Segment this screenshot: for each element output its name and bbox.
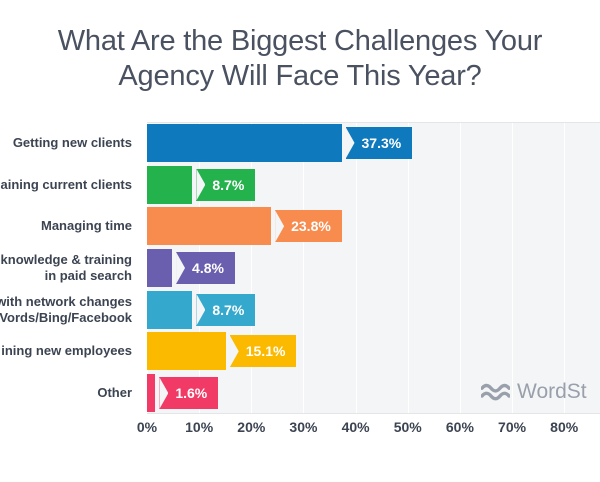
value-tick-label: 30% (289, 419, 317, 435)
bar-chart: What Are the Biggest Challenges Your Age… (0, 0, 600, 482)
bar-value-text: 37.3% (362, 135, 402, 151)
category-label: ining new employees (1, 343, 132, 359)
category-label: Other (97, 385, 132, 401)
bar-row: 23.8% (147, 207, 600, 245)
callout-notch-icon (196, 169, 205, 201)
bar-row: 15.1% (147, 332, 600, 370)
bar-value-label: 4.8% (176, 252, 235, 284)
value-tick-label: 80% (550, 419, 578, 435)
bar[interactable] (147, 374, 155, 412)
bar[interactable] (147, 249, 172, 287)
bar-row: 37.3% (147, 124, 600, 162)
category-label: Managing time (41, 218, 132, 234)
callout-notch-icon (159, 377, 168, 409)
callout-notch-icon (346, 127, 355, 159)
bar-value-label: 37.3% (346, 127, 413, 159)
category-axis: Getting new clientsaining current client… (0, 122, 140, 414)
category-label: knowledge & training in paid search (1, 252, 132, 284)
bar-value-text: 23.8% (291, 218, 331, 234)
value-tick-label: 0% (137, 419, 157, 435)
bar-value-text: 8.7% (212, 302, 244, 318)
category-label: Getting new clients (13, 135, 132, 151)
bar[interactable] (147, 207, 271, 245)
bar-row: 8.7% (147, 291, 600, 329)
category-label: aining current clients (1, 177, 132, 193)
value-tick-label: 60% (446, 419, 474, 435)
bar-value-label: 8.7% (196, 169, 255, 201)
value-tick-label: 40% (342, 419, 370, 435)
bar[interactable] (147, 166, 192, 204)
value-tick-label: 10% (185, 419, 213, 435)
chart-title: What Are the Biggest Challenges Your Age… (0, 24, 600, 94)
value-tick-label: 70% (498, 419, 526, 435)
bar-value-text: 1.6% (175, 385, 207, 401)
bar-row: 4.8% (147, 249, 600, 287)
bar-row: 8.7% (147, 166, 600, 204)
category-label: with network changes Vords/Bing/Facebook (0, 294, 132, 326)
callout-notch-icon (275, 210, 284, 242)
bar[interactable] (147, 291, 192, 329)
bar-value-label: 8.7% (196, 294, 255, 326)
bar-row: 1.6% (147, 374, 600, 412)
bar-value-text: 4.8% (192, 260, 224, 276)
callout-notch-icon (230, 335, 239, 367)
bar[interactable] (147, 332, 226, 370)
bar-value-label: 15.1% (230, 335, 297, 367)
bar-value-label: 1.6% (159, 377, 218, 409)
bar-value-label: 23.8% (275, 210, 342, 242)
bar-value-text: 8.7% (212, 177, 244, 193)
callout-notch-icon (176, 252, 185, 284)
bar-value-text: 15.1% (246, 343, 286, 359)
callout-notch-icon (196, 294, 205, 326)
value-tick-label: 20% (237, 419, 265, 435)
bar[interactable] (147, 124, 342, 162)
bars-layer: 37.3%8.7%23.8%4.8%8.7%15.1%1.6% (147, 122, 600, 414)
value-tick-label: 50% (394, 419, 422, 435)
value-axis: 0%10%20%30%40%50%60%70%80%9 (147, 419, 600, 441)
